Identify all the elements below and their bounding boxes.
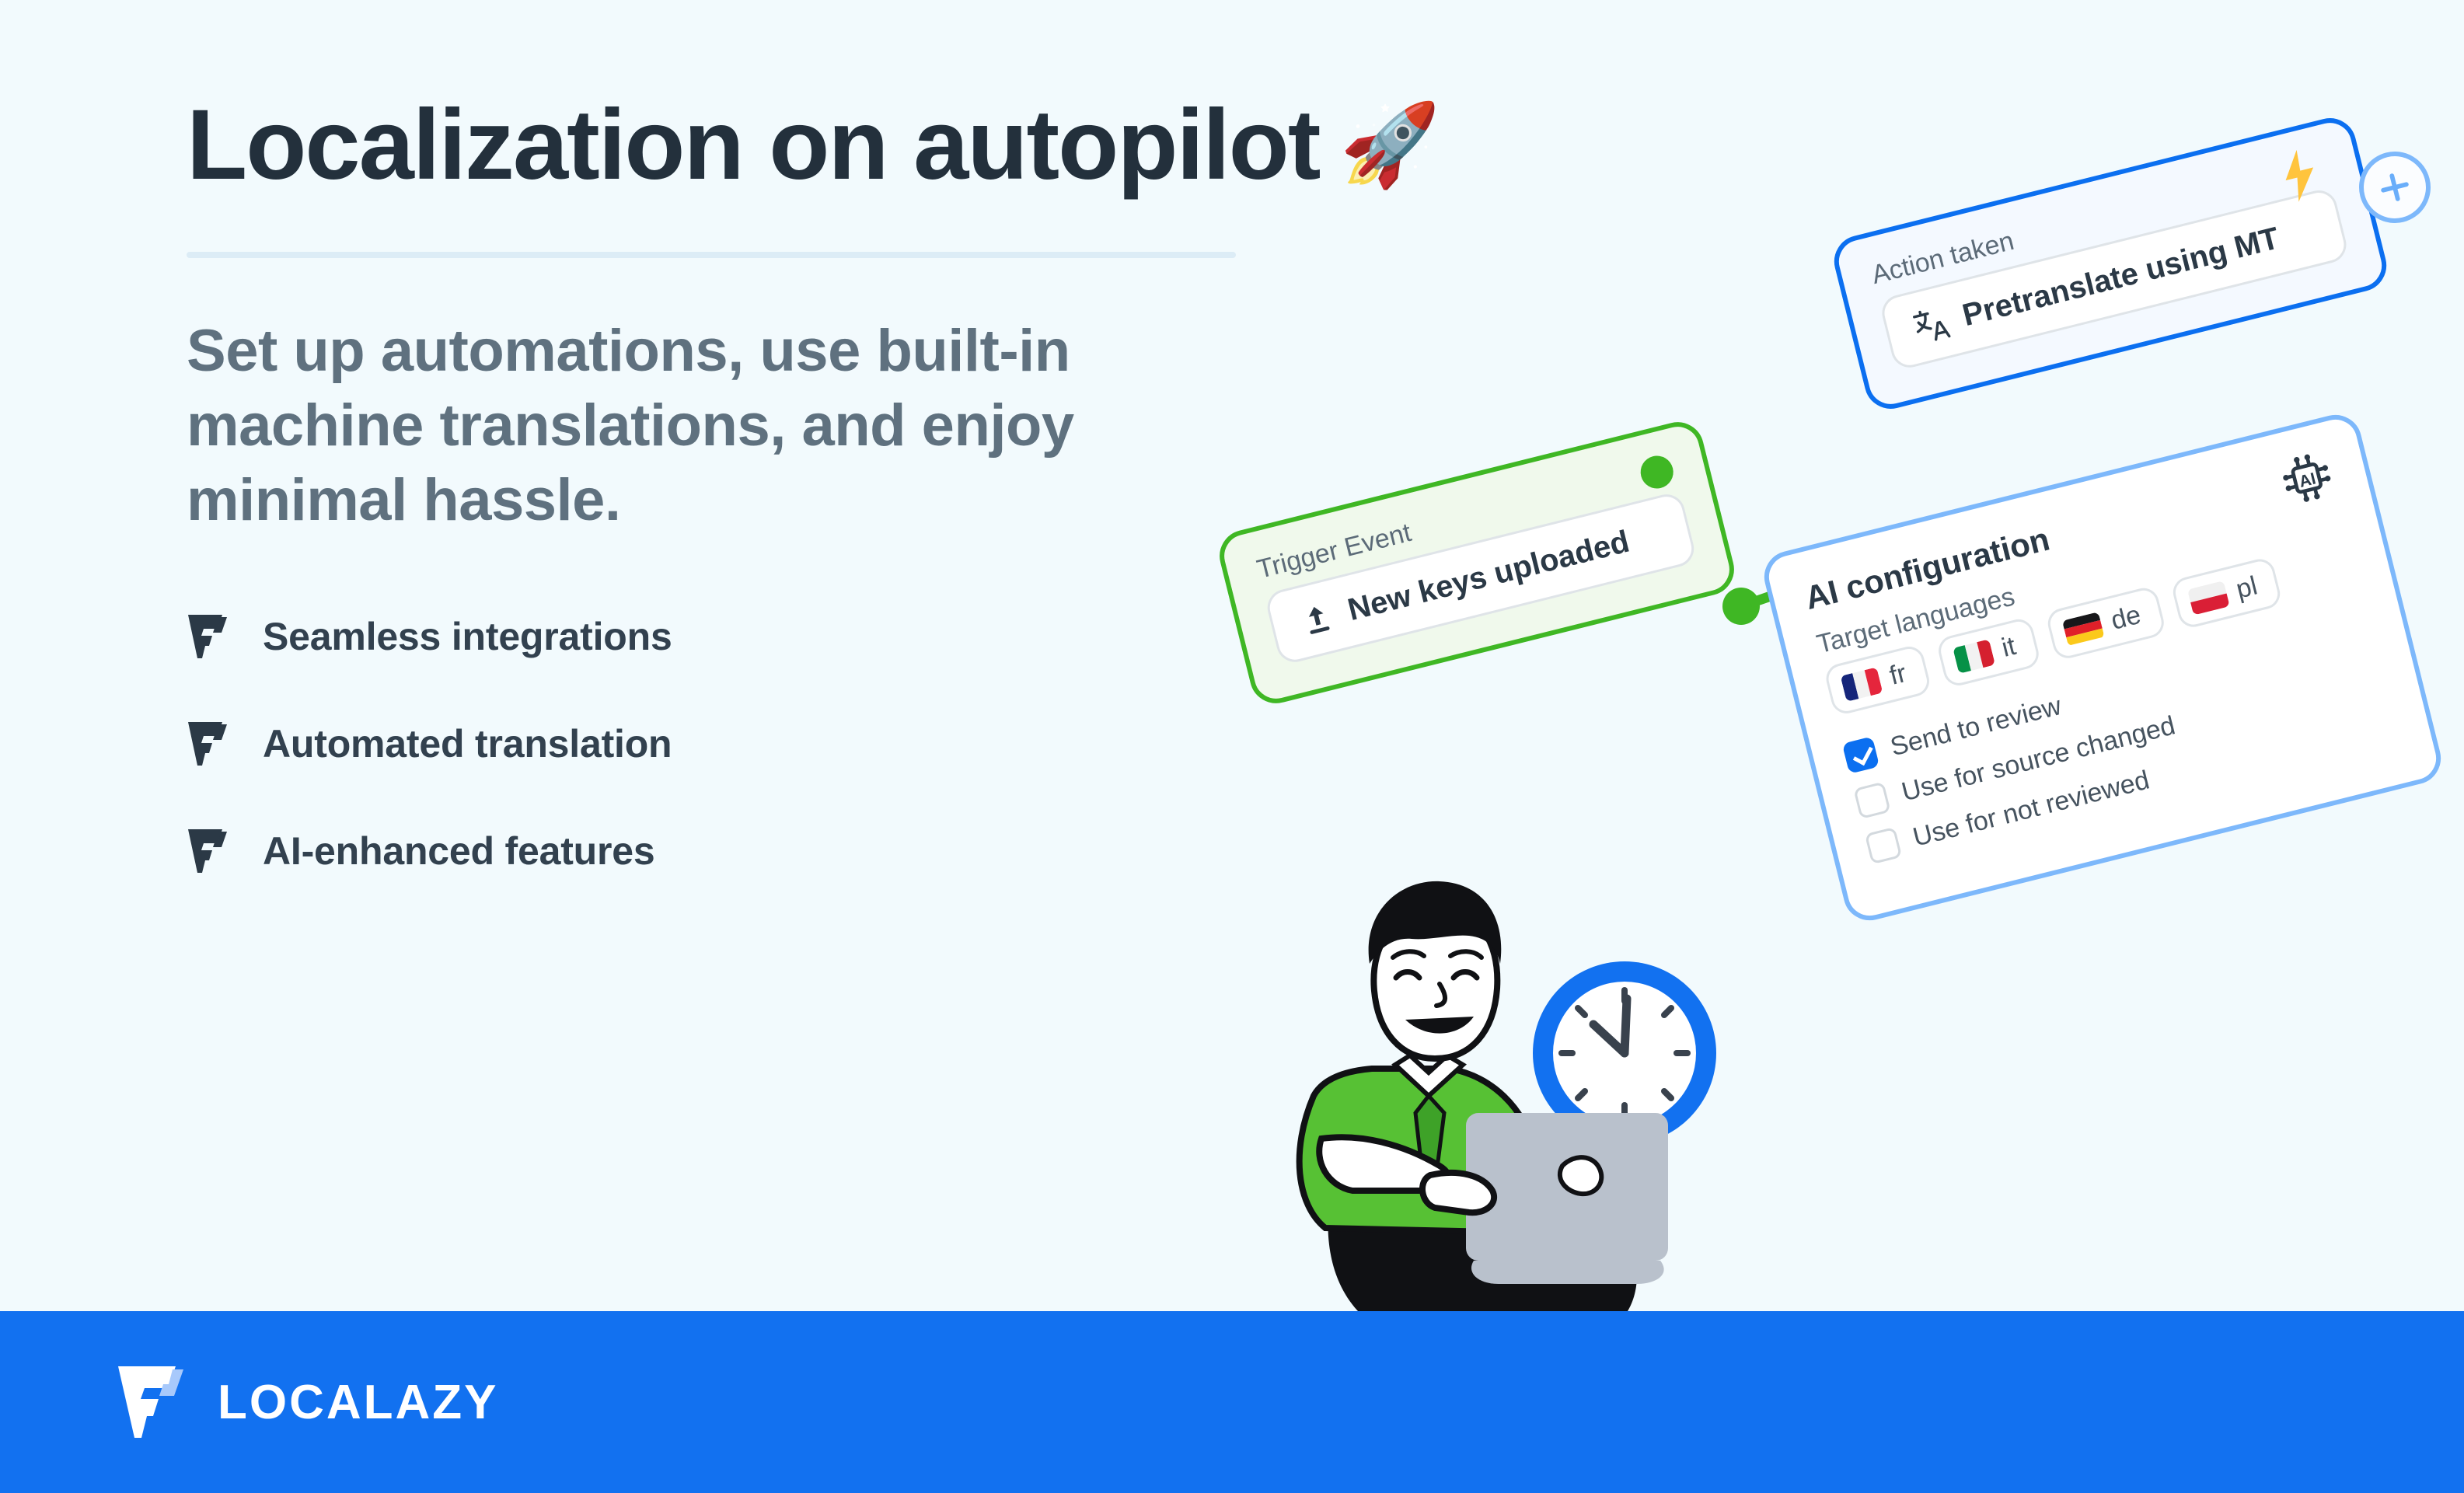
person-hand xyxy=(1422,1173,1494,1212)
footer-wordmark: LOCALAZY xyxy=(218,1375,499,1430)
feature-item-automated-translation: Automated translation xyxy=(187,720,1314,768)
trigger-event-node[interactable]: Trigger Event New keys uploaded xyxy=(1214,417,1740,709)
trigger-card-shell: Trigger Event New keys uploaded xyxy=(1214,417,1740,709)
rocket-emoji-icon: 🚀 xyxy=(1339,105,1439,186)
feature-item-seamless-integrations: Seamless integrations xyxy=(187,612,1314,661)
translate-icon xyxy=(1911,304,1952,345)
page-title-text: Localization on autopilot xyxy=(187,93,1319,197)
language-code: it xyxy=(1998,631,2019,664)
flag-germany-icon xyxy=(2062,612,2105,647)
language-code: pl xyxy=(2233,570,2260,605)
aiconfig-card-shell: AI AI configuration Target languages xyxy=(1759,410,2447,926)
checkbox-use-for-not-reviewed[interactable] xyxy=(1865,827,1902,864)
feature-item-ai-enhanced-features: AI-enhanced features xyxy=(187,827,1314,875)
checkbox-send-to-review[interactable] xyxy=(1842,736,1879,773)
person-head xyxy=(1369,881,1502,1059)
localazy-flag-icon xyxy=(187,612,229,661)
localazy-flag-icon xyxy=(115,1362,187,1442)
localazy-flag-icon xyxy=(187,827,229,875)
action-taken-node[interactable]: Action taken Pretranslate using MT xyxy=(1829,113,2392,414)
localazy-flag-icon xyxy=(187,720,229,768)
flag-italy-icon xyxy=(1953,639,1995,674)
language-code: de xyxy=(2108,600,2144,637)
plus-icon xyxy=(2373,166,2417,209)
illustration-svg xyxy=(1236,839,1733,1368)
person-with-laptop-illustration xyxy=(1236,839,1733,1368)
hero-content: Localization on autopilot 🚀 Set up autom… xyxy=(187,93,1314,934)
feature-label: Automated translation xyxy=(263,721,672,766)
feature-label: AI-enhanced features xyxy=(263,828,654,874)
footer-bar: LOCALAZY xyxy=(0,1311,2464,1493)
feature-list: Seamless integrations Automated translat… xyxy=(187,612,1314,875)
action-card-shell: Action taken Pretranslate using MT xyxy=(1829,113,2392,414)
checkbox-use-for-source-changed[interactable] xyxy=(1853,782,1890,819)
svg-text:AI: AI xyxy=(2297,469,2317,491)
ai-configuration-node[interactable]: AI AI configuration Target languages xyxy=(1759,410,2447,926)
upload-icon xyxy=(1297,598,1338,640)
language-code: fr xyxy=(1886,658,1910,692)
feature-label: Seamless integrations xyxy=(263,614,672,659)
flag-france-icon xyxy=(1841,667,1883,702)
flag-poland-icon xyxy=(2187,581,2229,616)
hero-subtitle: Set up automations, use built-in machine… xyxy=(187,314,1244,537)
title-divider xyxy=(187,252,1236,258)
page-title: Localization on autopilot 🚀 xyxy=(187,93,1314,197)
